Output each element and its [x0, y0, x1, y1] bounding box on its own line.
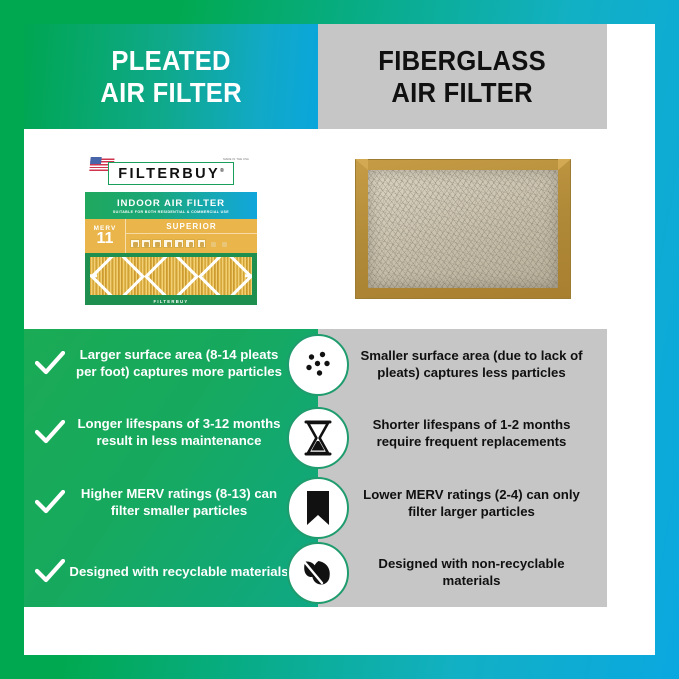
- comparison-row: Smaller surface area (due to lack of ple…: [318, 329, 607, 399]
- header-pleated-title-line1: PLEATED: [100, 45, 242, 76]
- filterbuy-gold-band: MERV 11 SUPERIOR: [85, 219, 257, 253]
- frame-corner-tr: [558, 159, 571, 170]
- comparison-row: Shorter lifespans of 1-2 months require …: [318, 399, 607, 469]
- header-fiberglass-panel: FIBERGLASS AIR FILTER: [318, 24, 607, 129]
- filterbuy-logo-text: FILTERBUY: [118, 166, 220, 182]
- trademark-symbol: ®: [220, 168, 224, 174]
- fiberglass-drawback-list: Smaller surface area (due to lack of ple…: [318, 329, 607, 607]
- leaf-eco-icon: [287, 542, 349, 604]
- particles-icon: [287, 334, 349, 396]
- comparison-row: Longer lifespans of 3-12 months result i…: [24, 399, 318, 469]
- comparison-row: Lower MERV ratings (2-4) can only filter…: [318, 468, 607, 538]
- comparison-left-column: Larger surface area (8-14 pleats per foo…: [24, 329, 318, 607]
- diamond-support: [197, 257, 252, 295]
- infographic-root: PLEATED AIR FILTER FIBERGLASS AIR FILTER…: [0, 0, 679, 679]
- comparison-right-column: Smaller surface area (due to lack of ple…: [318, 329, 607, 607]
- filterbuy-box-top: MADE IN THE USA FILTERBUY®: [85, 153, 257, 192]
- comparison-row-right-text: Smaller surface area (due to lack of ple…: [318, 347, 607, 381]
- filter-capability-icons: [126, 234, 257, 253]
- capability-icon-mold: [152, 239, 162, 249]
- comparison-row: Larger surface area (8-14 pleats per foo…: [24, 329, 318, 399]
- check-icon: [24, 420, 68, 446]
- filterbuy-filter-image: MADE IN THE USA FILTERBUY® INDOOR AIR FI…: [85, 153, 257, 305]
- comparison-row-right-text: Designed with non-recyclable materials: [318, 555, 607, 589]
- header-pleated-title: PLEATED AIR FILTER: [100, 45, 242, 108]
- product-image-row: MADE IN THE USA FILTERBUY® INDOOR AIR FI…: [24, 129, 607, 329]
- pleated-product-cell: MADE IN THE USA FILTERBUY® INDOOR AIR FI…: [24, 129, 318, 329]
- capability-icon-smoke: [185, 239, 195, 249]
- bookmark-icon: [287, 477, 349, 539]
- comparison-row-left-text: Designed with recyclable materials: [68, 564, 318, 581]
- diamond-support: [143, 257, 198, 295]
- capability-icon-bacteria: [174, 239, 184, 249]
- diamond-support-grid: [90, 257, 252, 295]
- filterbuy-pleat-section: FILTERBUY: [85, 253, 257, 305]
- filterbuy-logo: FILTERBUY®: [108, 162, 234, 186]
- diamond-edge-right: [245, 274, 252, 277]
- check-icon: [24, 559, 68, 585]
- capability-icon-pollen: [141, 239, 151, 249]
- bottom-white-strip: [24, 607, 607, 655]
- header-band: PLEATED AIR FILTER FIBERGLASS AIR FILTER: [24, 24, 607, 129]
- header-fiberglass-title: FIBERGLASS AIR FILTER: [379, 45, 547, 108]
- comparison-row-left-text: Longer lifespans of 3-12 months result i…: [68, 416, 318, 450]
- comparison-row: Designed with non-recyclable materials: [318, 538, 607, 608]
- comparison-row-left-text: Larger surface area (8-14 pleats per foo…: [68, 347, 318, 381]
- merv-badge: MERV 11: [85, 219, 126, 253]
- fiberglass-product-cell: [318, 129, 607, 329]
- capability-icon-odor: [197, 239, 207, 249]
- capability-icon-recycle: [208, 239, 218, 249]
- check-icon: [24, 490, 68, 516]
- merv-value: 11: [97, 231, 114, 246]
- header-fiberglass-title-line1: FIBERGLASS: [379, 45, 547, 76]
- filterbuy-footer-label: FILTERBUY: [85, 299, 257, 304]
- comparison-row: Designed with recyclable materials: [24, 538, 318, 608]
- filterbuy-grade-section: SUPERIOR: [126, 219, 257, 253]
- suitable-use-label: SUITABLE FOR BOTH RESIDENTIAL & COMMERCI…: [113, 210, 229, 214]
- header-pleated-title-line2: AIR FILTER: [100, 77, 242, 108]
- comparison-row: Higher MERV ratings (8-13) can filter sm…: [24, 468, 318, 538]
- fiberglass-mesh: [368, 170, 558, 288]
- fiberglass-filter-image: [355, 159, 571, 299]
- header-pleated-panel: PLEATED AIR FILTER: [24, 24, 318, 129]
- header-fiberglass-title-line2: AIR FILTER: [379, 77, 547, 108]
- hourglass-icon: [287, 407, 349, 469]
- capability-icon-pet-dander: [163, 239, 173, 249]
- capability-icon-dust: [130, 239, 140, 249]
- comparison-row-left-text: Higher MERV ratings (8-13) can filter sm…: [68, 486, 318, 520]
- comparison-row-right-text: Lower MERV ratings (2-4) can only filter…: [318, 486, 607, 520]
- filterbuy-indoor-band: INDOOR AIR FILTER SUITABLE FOR BOTH RESI…: [85, 192, 257, 219]
- check-icon: [24, 351, 68, 377]
- indoor-air-filter-label: INDOOR AIR FILTER: [117, 198, 225, 209]
- capability-icon-extra: [219, 239, 229, 249]
- diamond-support: [90, 257, 145, 295]
- frame-corner-tl: [355, 159, 368, 170]
- grade-label: SUPERIOR: [126, 219, 257, 234]
- comparison-panel: Larger surface area (8-14 pleats per foo…: [24, 329, 607, 607]
- pleated-benefit-list: Larger surface area (8-14 pleats per foo…: [24, 329, 318, 607]
- pleat-media: [90, 257, 252, 295]
- comparison-row-right-text: Shorter lifespans of 1-2 months require …: [318, 416, 607, 450]
